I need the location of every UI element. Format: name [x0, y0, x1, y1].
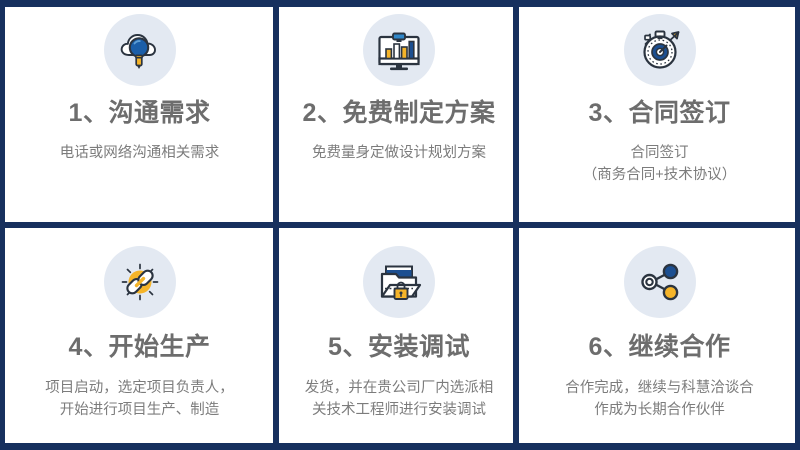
step-description: 项目启动，选定项目负责人， 开始进行项目生产、制造: [35, 377, 244, 422]
step-description: 合同签订 （商务合同+技术协议）: [573, 142, 746, 187]
step-description: 发货，并在贵公司厂内选派相 关技术工程师进行安装调试: [295, 377, 504, 422]
step-title: 6、继续合作: [589, 334, 731, 362]
step-title: 3、合同签订: [589, 100, 731, 128]
vertical-divider-1: [273, 0, 279, 450]
chain-link-icon: [104, 246, 176, 318]
stopwatch-target-arrow-icon: [624, 14, 696, 86]
step-title: 1、沟通需求: [69, 100, 211, 128]
folder-lock-icon: [363, 246, 435, 318]
frame-border-top: [0, 0, 800, 7]
horizontal-divider: [0, 222, 800, 228]
step-description: 免费量身定做设计规划方案: [302, 142, 496, 164]
cloud-search-icon: [104, 14, 176, 86]
process-steps-infographic: 1、沟通需求 电话或网络沟通相关需求 2、免费制定方案: [0, 0, 800, 450]
step-description: 电话或网络沟通相关需求: [50, 142, 230, 164]
step-card-1: 1、沟通需求 电话或网络沟通相关需求: [0, 0, 279, 228]
step-title: 2、免费制定方案: [303, 100, 496, 128]
step-title: 5、安装调试: [328, 334, 470, 362]
vertical-divider-2: [513, 0, 519, 450]
frame-border-right: [795, 0, 800, 450]
frame-border-left: [0, 0, 5, 450]
monitor-chart-icon: [363, 14, 435, 86]
share-nodes-icon: [624, 246, 696, 318]
step-card-2: 2、免费制定方案 免费量身定做设计规划方案: [279, 0, 519, 228]
step-description: 合作完成，继续与科慧洽谈合 作成为长期合作伙伴: [555, 377, 764, 422]
frame-border-bottom: [0, 443, 800, 450]
step-card-4: 4、开始生产 项目启动，选定项目负责人， 开始进行项目生产、制造: [0, 228, 279, 450]
step-card-3: 3、合同签订 合同签订 （商务合同+技术协议）: [519, 0, 800, 228]
step-card-5: 5、安装调试 发货，并在贵公司厂内选派相 关技术工程师进行安装调试: [279, 228, 519, 450]
step-title: 4、开始生产: [69, 334, 211, 362]
step-card-6: 6、继续合作 合作完成，继续与科慧洽谈合 作成为长期合作伙伴: [519, 228, 800, 450]
